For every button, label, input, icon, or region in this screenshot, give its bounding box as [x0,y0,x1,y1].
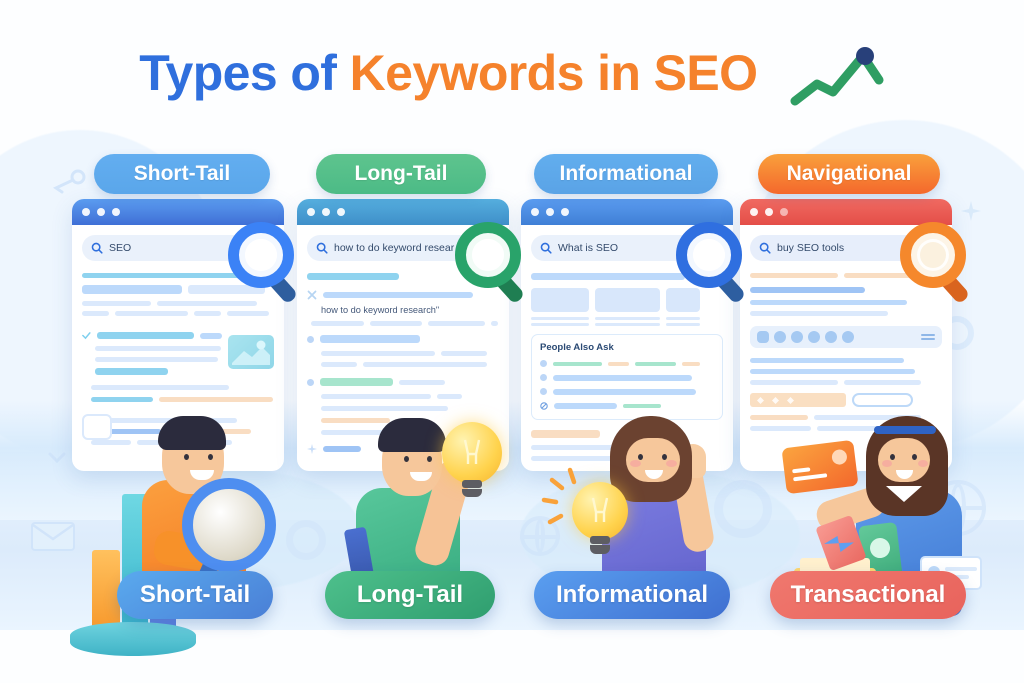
search-suggestion-text[interactable]: how to do keyword research" [321,305,499,315]
window-dot [337,208,345,216]
top-pill-label: Navigational [787,162,912,186]
bottom-pill-informational[interactable]: Informational [534,571,730,619]
browser-titlebar [521,199,733,225]
window-dot [546,208,554,216]
dot-icon [791,331,803,343]
people-also-ask-title: People Also Ask [540,342,714,353]
title-part-1: Types of [139,45,349,101]
window-dot [765,208,773,216]
bottom-pill-transactional[interactable]: Transactional [770,571,966,619]
key-icon [52,168,88,194]
window-dot [750,208,758,216]
search-query-text: SEO [109,242,131,254]
top-pill-short-tail[interactable]: Short-Tail [94,154,270,194]
search-query-text: What is SEO [558,242,618,254]
search-query-text: buy SEO tools [777,242,844,254]
character-hair [158,416,226,450]
dot-icon [842,331,854,343]
bottom-pill-short-tail[interactable]: Short-Tail [117,571,273,619]
search-icon [316,242,328,254]
bottom-pill-label: Transactional [791,581,946,609]
close-icon [307,290,317,300]
magnifier-lens [472,239,504,271]
magnifier-lens [245,239,277,271]
result-icon-strip [750,326,942,348]
browser-titlebar [740,199,952,225]
top-pill-label: Informational [559,162,692,186]
page-title: Types of Keywords in SEO [0,44,1024,108]
title-part-2: Keywords in SEO [350,45,758,101]
top-pill-informational[interactable]: Informational [534,154,718,194]
browser-titlebar [72,199,284,225]
window-dot [780,208,788,216]
list-bullet [307,379,314,386]
bottom-pill-long-tail[interactable]: Long-Tail [325,571,495,619]
bottom-pill-label: Short-Tail [140,581,250,609]
menu-icon [921,332,935,342]
top-pill-label: Long-Tail [355,162,448,186]
result-thumbnail [228,335,274,369]
window-dot [531,208,539,216]
result-card-tile [666,288,701,312]
magnifier-lens [693,239,725,271]
dot-icon [825,331,837,343]
window-dot [307,208,315,216]
favicon-tile [757,331,769,343]
window-dot [322,208,330,216]
search-icon [759,242,771,254]
bottom-pill-label: Long-Tail [357,581,463,609]
character-hair [378,418,446,452]
result-card-tile [531,288,589,312]
search-icon [91,242,103,254]
sparkle-icon [960,200,982,222]
list-bullet [540,388,547,395]
window-dot [561,208,569,216]
window-dot [82,208,90,216]
dot-icon [808,331,820,343]
line-chart-up-icon [789,46,885,108]
list-bullet [540,360,547,367]
window-dot [97,208,105,216]
dot-icon [774,331,786,343]
top-pill-navigational[interactable]: Navigational [758,154,940,194]
window-dot [112,208,120,216]
search-icon [540,242,552,254]
list-bullet [307,336,314,343]
credit-card-icon [781,440,858,494]
infographic-canvas: Types of Keywords in SEO Short-Tail Long… [0,0,1024,683]
browser-titlebar [297,199,509,225]
check-icon [82,331,91,340]
top-pill-long-tail[interactable]: Long-Tail [316,154,486,194]
search-query-text: how to do keyword resear [334,242,454,254]
bottom-pill-label: Informational [556,581,708,609]
magnifier-lens [917,239,949,271]
result-card-tile [595,288,660,312]
top-pill-label: Short-Tail [134,162,230,186]
list-bullet [540,374,547,381]
